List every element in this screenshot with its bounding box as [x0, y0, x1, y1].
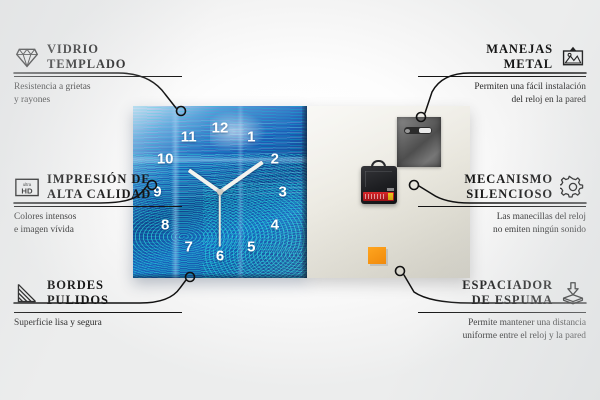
picture-hanger-icon — [560, 45, 586, 69]
callout-title-line2: ALTA CALIDAD — [47, 187, 151, 202]
callout-desc-line2: no emiten ningún sonido — [418, 224, 586, 236]
clock-number-6: 6 — [216, 248, 224, 263]
diamond-icon — [14, 45, 40, 69]
svg-text:HD: HD — [21, 186, 33, 195]
callout-mecanismo-silencioso[interactable]: MECANISMO SILENCIOSO Las manecillas del … — [418, 172, 586, 236]
callout-desc-line1: Superficie lisa y segura — [14, 317, 182, 329]
callout-title-line1: BORDES — [47, 278, 109, 293]
callout-desc-line2: y rayones — [14, 94, 182, 106]
callout-divider — [418, 206, 586, 208]
callout-title-line1: VIDRIO — [47, 42, 126, 57]
callout-vidrio-templado[interactable]: VIDRIO TEMPLADO Resistencia a grietas y … — [14, 42, 182, 106]
battery — [363, 192, 394, 201]
callout-title-line1: ESPACIADOR — [462, 278, 553, 293]
clock-number-7: 7 — [185, 240, 193, 255]
callout-divider — [418, 76, 586, 78]
callout-manejas-metal[interactable]: MANEJAS METAL Permiten una fácil instala… — [418, 42, 586, 106]
callout-title-line2: TEMPLADO — [47, 57, 126, 72]
callout-title-line1: IMPRESIÓN DE — [47, 172, 151, 187]
callout-title-line1: MECANISMO — [464, 172, 553, 187]
callout-bordes-pulidos[interactable]: BORDES PULIDOS Superficie lisa y segura — [14, 278, 182, 330]
clock-center-cap — [217, 189, 223, 195]
foam-spacer-icon — [560, 281, 586, 305]
clock-second-hand — [219, 192, 221, 247]
callout-espaciador-espuma[interactable]: ESPACIADOR DE ESPUMA Permite mantener un… — [418, 278, 586, 342]
callout-divider — [418, 312, 586, 314]
clock-number-5: 5 — [247, 240, 255, 255]
callout-divider — [14, 206, 182, 208]
callout-title-line2: SILENCIOSO — [464, 187, 553, 202]
clock-number-12: 12 — [212, 121, 229, 136]
callout-desc-line1: Resistencia a grietas — [14, 81, 182, 93]
clock-number-1: 1 — [247, 129, 255, 144]
callout-desc-line2: e imagen vívida — [14, 224, 182, 236]
clock-number-10: 10 — [157, 152, 174, 167]
callout-desc-line1: Permite mantener una distancia — [418, 317, 586, 329]
gear-icon — [560, 175, 586, 199]
callout-desc-line2: uniforme entre el reloj y la pared — [418, 330, 586, 342]
clock-number-11: 11 — [181, 129, 197, 144]
callout-title-line2: DE ESPUMA — [462, 293, 553, 308]
callout-title-line2: PULIDOS — [47, 293, 109, 308]
callout-impresion-alta-calidad[interactable]: ultra HD IMPRESIÓN DE ALTA CALIDAD Color… — [14, 172, 182, 236]
callout-desc-line1: Las manecillas del reloj — [418, 211, 586, 223]
ultra-hd-icon: ultra HD — [14, 175, 40, 199]
callout-divider — [14, 76, 182, 78]
callout-desc-line2: del reloj en la pared — [418, 94, 586, 106]
callout-title-line1: MANEJAS — [486, 42, 553, 57]
callout-desc-line1: Permiten una fácil instalación — [418, 81, 586, 93]
callout-title-line2: METAL — [486, 57, 553, 72]
clock-mechanism[interactable] — [361, 166, 397, 204]
callout-desc-line1: Colores intensos — [14, 211, 182, 223]
infographic-canvas: 12 1 2 3 4 5 6 7 8 9 10 11 — [0, 0, 600, 400]
polished-edges-icon — [14, 281, 40, 305]
metal-hanger-plate[interactable] — [397, 117, 441, 167]
foam-spacer[interactable] — [368, 247, 386, 264]
clock-number-2: 2 — [271, 152, 279, 167]
clock-number-4: 4 — [271, 217, 279, 232]
callout-divider — [14, 312, 182, 314]
clock-number-3: 3 — [278, 185, 286, 200]
